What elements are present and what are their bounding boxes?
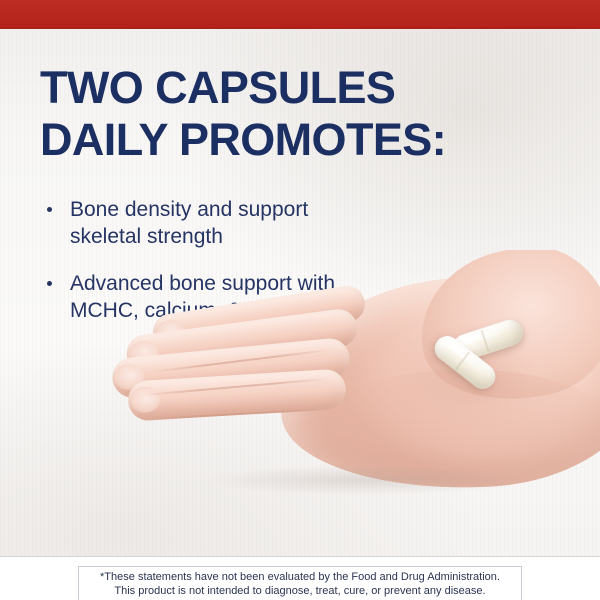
fda-disclaimer: *These statements have not been evaluate… [78, 566, 522, 600]
headline-line-2: DAILY PROMOTES: [40, 114, 540, 166]
benefit-list-item: Bone density and support skeletal streng… [44, 196, 424, 250]
footer-divider [0, 556, 600, 557]
benefit-text-line-1: Bone density and support [70, 196, 424, 223]
benefit-text-line-2: skeletal strength [70, 223, 424, 250]
disclaimer-line-2: This product is not intended to diagnose… [83, 584, 517, 598]
hand-with-capsules-photo [0, 250, 600, 550]
headline-line-1: TWO CAPSULES [40, 62, 540, 114]
bullet-dot-icon [47, 207, 52, 212]
top-accent-bar [0, 0, 600, 29]
fingertip [129, 386, 161, 414]
hand-contact-shadow [150, 460, 580, 500]
product-benefit-panel: TWO CAPSULES DAILY PROMOTES: Bone densit… [0, 0, 600, 600]
disclaimer-line-1: *These statements have not been evaluate… [83, 570, 517, 584]
headline: TWO CAPSULES DAILY PROMOTES: [40, 62, 540, 166]
